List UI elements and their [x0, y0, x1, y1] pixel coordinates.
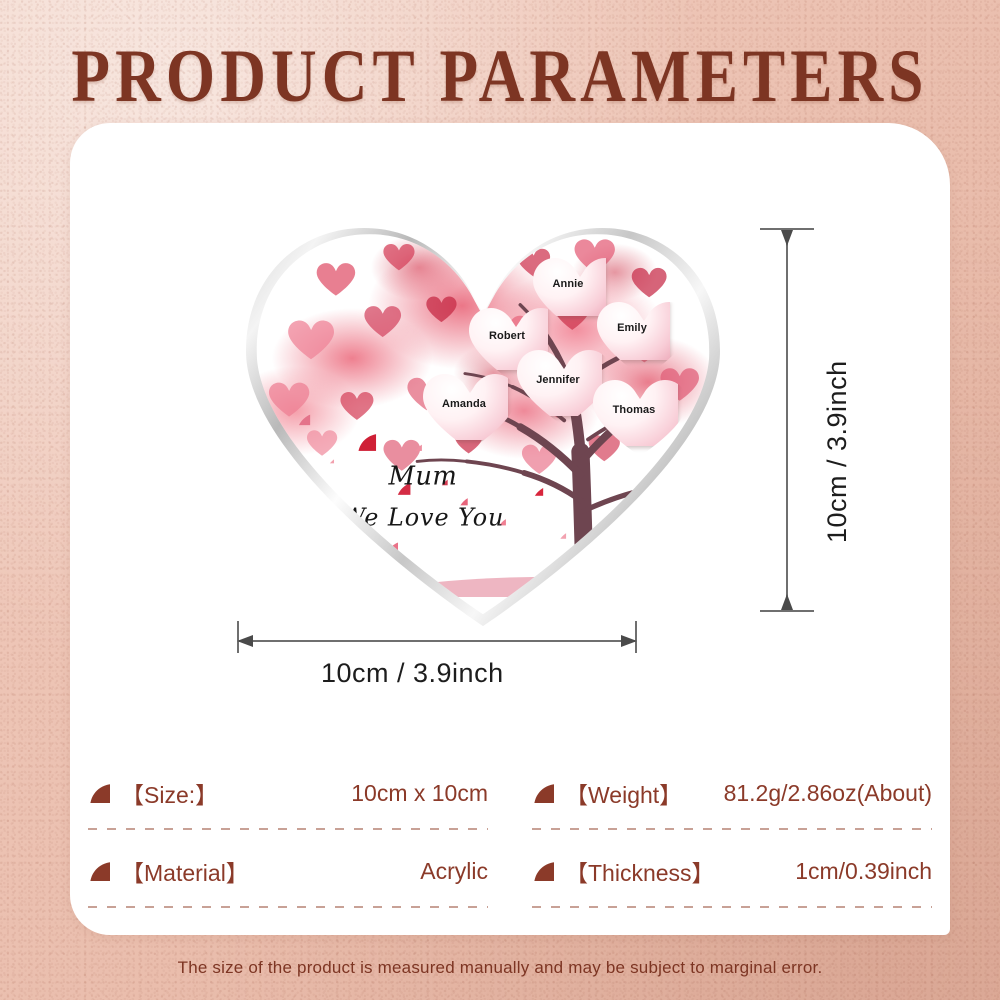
width-label: 10cm / 3.9inch	[321, 658, 504, 689]
falling-heart-icon	[555, 528, 566, 539]
heart-bullet-icon	[88, 783, 110, 803]
page-title: PRODUCT PARAMETERS	[0, 34, 1000, 121]
spec-row-thickness: 【Thickness】 1cm/0.39inch	[532, 846, 932, 908]
height-arrow-bottom	[779, 594, 795, 612]
spec-value: 1cm/0.39inch	[795, 858, 932, 885]
falling-heart-icon	[530, 484, 543, 495]
falling-heart-icon	[295, 412, 310, 425]
footer-note: The size of the product is measured manu…	[0, 958, 1000, 978]
name-heart-label: Amanda	[442, 398, 486, 410]
name-heart-label: Annie	[552, 278, 583, 290]
name-heart-jennifer[interactable]: Jennifer	[514, 348, 602, 416]
width-arrow-left	[237, 633, 255, 649]
spec-divider	[88, 906, 488, 908]
falling-heart-icon	[409, 440, 421, 451]
spec-row-material: 【Material】 Acrylic	[88, 846, 488, 908]
spec-key: 【Thickness】	[565, 854, 715, 888]
spec-column-right: 【Weight】 81.2g/2.86oz(About) 【Thickness】…	[532, 768, 932, 908]
acrylic-heart-plaque: Mum We Love You Annie Robert Emily Jenni…	[238, 218, 728, 628]
name-heart-label: Robert	[489, 330, 525, 342]
spec-value: 10cm x 10cm	[351, 780, 488, 807]
falling-heart-icon	[289, 484, 303, 496]
spec-row-size: 【Size:】 10cm x 10cm	[88, 768, 488, 830]
message-line-1: Mum	[388, 461, 457, 491]
product-image: Mum We Love You Annie Robert Emily Jenni…	[238, 218, 748, 728]
name-heart-label: Emily	[617, 322, 647, 334]
name-heart-label: Jennifer	[536, 374, 580, 386]
spec-key: 【Weight】	[565, 776, 682, 810]
name-heart-amanda[interactable]: Amanda	[420, 372, 508, 440]
height-label: 10cm / 3.9inch	[822, 360, 853, 543]
spec-divider	[532, 906, 932, 908]
width-arrow-right	[619, 633, 637, 649]
spec-key: 【Material】	[121, 854, 249, 888]
spec-divider	[532, 828, 932, 830]
name-heart-thomas[interactable]: Thomas	[590, 378, 678, 446]
heart-bullet-icon	[88, 861, 110, 881]
spec-column-left: 【Size:】 10cm x 10cm 【Material】 Acrylic	[88, 768, 488, 908]
spec-row-weight: 【Weight】 81.2g/2.86oz(About)	[532, 768, 932, 830]
spec-table: 【Size:】 10cm x 10cm 【Material】 Acrylic 【…	[70, 768, 950, 908]
falling-heart-icon	[270, 446, 282, 457]
name-heart-emily[interactable]: Emily	[594, 300, 670, 360]
spec-value: 81.2g/2.86oz(About)	[724, 780, 932, 807]
heart-bullet-icon	[532, 861, 554, 881]
spec-key: 【Size:】	[121, 776, 218, 810]
height-line	[786, 228, 788, 612]
heart-bullet-icon	[532, 783, 554, 803]
falling-heart-icon	[324, 454, 335, 464]
spec-divider	[88, 828, 488, 830]
name-heart-label: Thomas	[613, 404, 656, 416]
spec-value: Acrylic	[420, 858, 488, 885]
falling-heart-icon	[356, 433, 376, 451]
height-arrow-top	[779, 228, 795, 246]
width-line	[237, 640, 637, 642]
content-card: Mum We Love You Annie Robert Emily Jenni…	[70, 123, 950, 935]
